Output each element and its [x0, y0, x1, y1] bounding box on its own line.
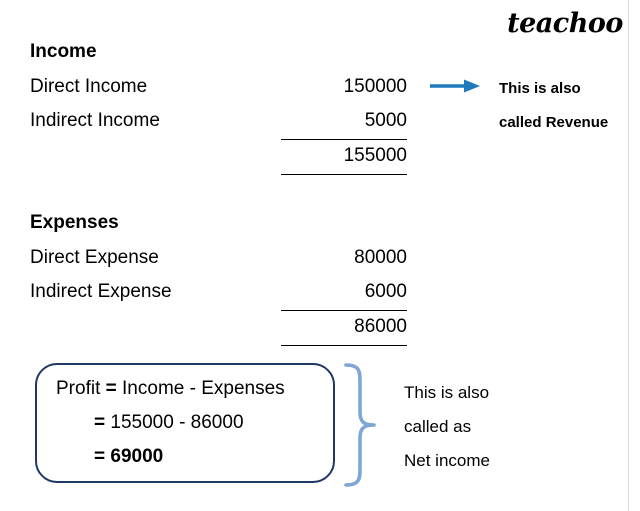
income-row-amount-direct: 150000: [281, 76, 407, 98]
profit-substitution-line: = 155000 - 86000: [94, 412, 244, 434]
income-total-rule: [281, 174, 407, 175]
expenses-row-amount-direct: 80000: [281, 247, 407, 269]
profit-result-line: = 69000: [94, 446, 163, 468]
expenses-subtotal-rule: [281, 310, 407, 311]
profit-equals-1: =: [106, 378, 117, 399]
income-row-label-direct: Direct Income: [30, 76, 147, 98]
income-total-amount: 155000: [281, 145, 407, 167]
profit-equals-2: =: [94, 412, 105, 433]
expenses-row-amount-indirect: 6000: [281, 281, 407, 303]
profit-label: Profit: [56, 378, 100, 399]
slide-canvas: teachoo Income Direct Income 150000 Indi…: [0, 0, 640, 511]
right-arrow-icon: [430, 76, 482, 96]
expenses-row-label-indirect: Indirect Expense: [30, 281, 172, 303]
right-edge-rule: [628, 0, 629, 511]
teachoo-logo: teachoo: [505, 8, 625, 39]
income-note-line-2: called Revenue: [499, 114, 608, 131]
income-row-label-indirect: Indirect Income: [30, 110, 160, 132]
profit-expression-1: Income - Expenses: [122, 378, 285, 399]
profit-formula-line: Profit = Income - Expenses: [56, 378, 285, 400]
profit-note-line-1: This is also: [404, 383, 489, 403]
income-subtotal-rule: [281, 139, 407, 140]
profit-box: Profit = Income - Expenses = 155000 - 86…: [35, 363, 335, 483]
profit-expression-2: 155000 - 86000: [110, 412, 243, 433]
expenses-total-amount: 86000: [281, 316, 407, 338]
income-note-line-1: This is also: [499, 80, 581, 97]
expenses-total-rule: [281, 345, 407, 346]
right-curly-brace-icon: [340, 360, 386, 490]
profit-note-line-3: Net income: [404, 451, 490, 471]
profit-equals-3: =: [94, 446, 105, 467]
profit-result-value: 69000: [110, 446, 163, 467]
expenses-row-label-direct: Direct Expense: [30, 247, 159, 269]
income-row-amount-indirect: 5000: [281, 110, 407, 132]
profit-note-line-2: called as: [404, 417, 471, 437]
expenses-heading: Expenses: [30, 212, 119, 234]
income-heading: Income: [30, 41, 97, 63]
